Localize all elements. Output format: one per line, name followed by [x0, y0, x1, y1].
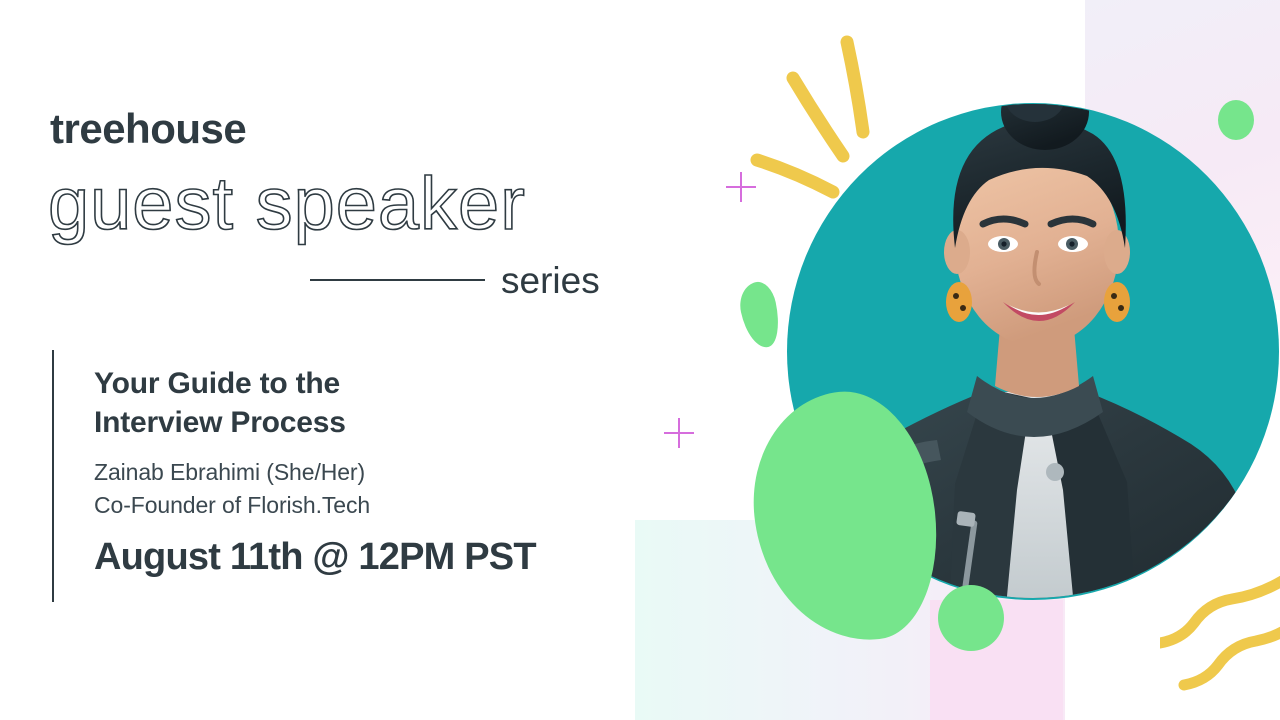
brand-wordmark: treehouse [50, 108, 246, 150]
event-datetime: August 11th @ 12PM PST [94, 537, 652, 579]
plus-mark-top [726, 172, 756, 202]
plus-mark-middle [664, 418, 694, 448]
yellow-burst-strokes [745, 30, 905, 220]
green-circle-bottom [938, 585, 1004, 651]
green-blob-small [736, 279, 785, 351]
speaker-role: Co-Founder of Florish.Tech [94, 489, 652, 522]
speaker-name: Zainab Ebrahimi (She/Her) [94, 456, 652, 489]
talk-title: Your Guide to the Interview Process [94, 364, 652, 442]
talk-details-block: Your Guide to the Interview Process Zain… [52, 350, 652, 602]
svg-text:guest speaker: guest speaker [48, 163, 526, 245]
series-label: series [501, 262, 600, 299]
yellow-squiggle-strokes [1160, 575, 1280, 700]
headline-outline-text: guest speaker [44, 163, 664, 251]
talk-title-line-2: Interview Process [94, 406, 346, 439]
talk-title-line-1: Your Guide to the [94, 367, 340, 400]
series-row: series [310, 258, 630, 302]
series-divider-rule [310, 279, 485, 281]
promo-graphic-canvas: treehouse guest speaker series Your Guid… [0, 0, 1280, 720]
